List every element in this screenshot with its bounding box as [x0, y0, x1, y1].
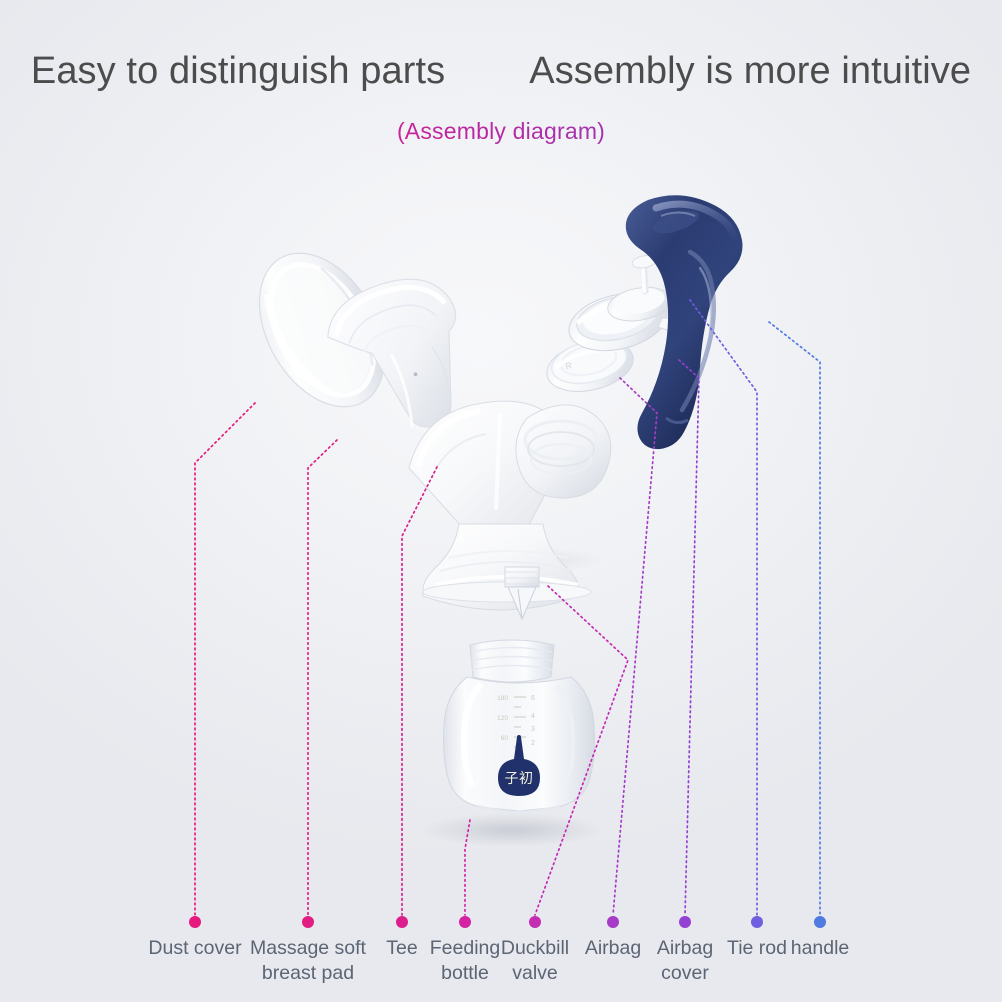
- callout-label-tie-rod: Tie rod: [727, 936, 787, 961]
- callout-label-tee: Tee: [386, 936, 417, 961]
- callout-label-duckbill-valve: Duckbill valve: [501, 936, 569, 986]
- callout-label-dust-cover: Dust cover: [148, 936, 241, 961]
- callout-label-airbag-cover: Airbag cover: [657, 936, 713, 986]
- callout-labels: Dust coverMassage soft breast padTeeFeed…: [0, 0, 1002, 1002]
- callout-label-airbag: Airbag: [585, 936, 641, 961]
- assembly-diagram-page: Easy to distinguish parts Assembly is mo…: [0, 0, 1002, 1002]
- callout-label-feeding-bottle: Feeding bottle: [430, 936, 500, 986]
- callout-label-massage-pad: Massage soft breast pad: [250, 936, 366, 986]
- callout-label-handle: handle: [791, 936, 850, 961]
